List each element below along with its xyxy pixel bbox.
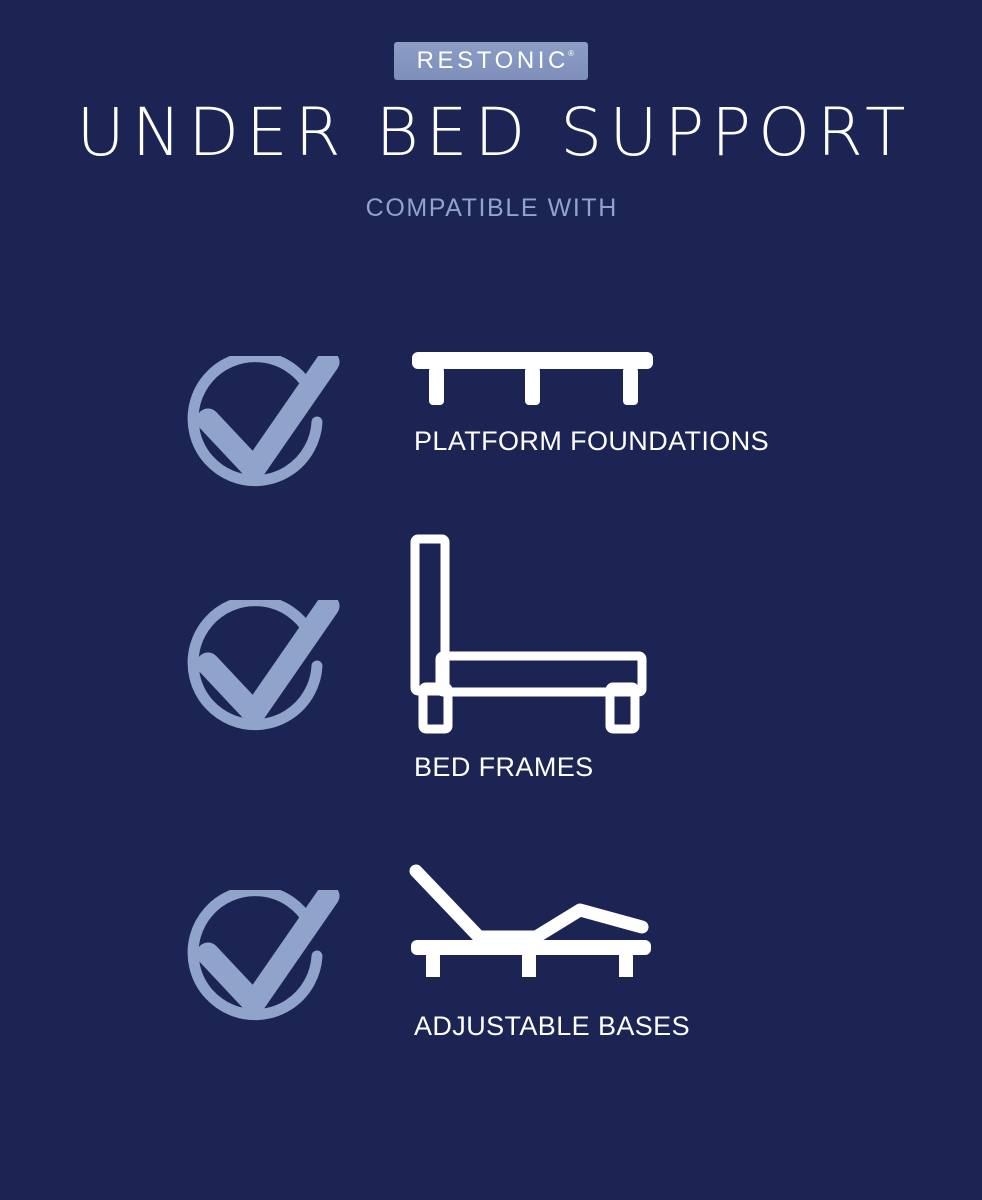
platform-foundation-icon xyxy=(410,350,655,410)
compatibility-row: PLATFORM FOUNDATIONS xyxy=(0,340,982,500)
check-circle-icon xyxy=(186,890,341,1040)
compatibility-row: BED FRAMES xyxy=(0,530,982,790)
page-subtitle: COMPATIBLE WITH xyxy=(0,196,982,221)
under-bed-support-infographic: RESTONIC ® UNDER BED SUPPORT COMPATIBLE … xyxy=(0,0,982,1200)
brand-name: RESTONIC xyxy=(413,49,569,73)
compatibility-label: PLATFORM FOUNDATIONS xyxy=(414,428,769,455)
registered-trademark-icon: ® xyxy=(568,50,574,58)
compatibility-label: BED FRAMES xyxy=(414,754,594,781)
bed-frame-icon xyxy=(410,534,655,734)
compatibility-row: ADJUSTABLE BASES xyxy=(0,862,982,1052)
adjustable-base-icon xyxy=(406,862,656,977)
check-circle-icon xyxy=(186,600,341,750)
check-circle-icon xyxy=(186,356,341,506)
page-title: UNDER BED SUPPORT xyxy=(0,100,982,166)
compatibility-label: ADJUSTABLE BASES xyxy=(414,1013,690,1040)
restonic-logo-badge: RESTONIC ® xyxy=(394,42,588,80)
